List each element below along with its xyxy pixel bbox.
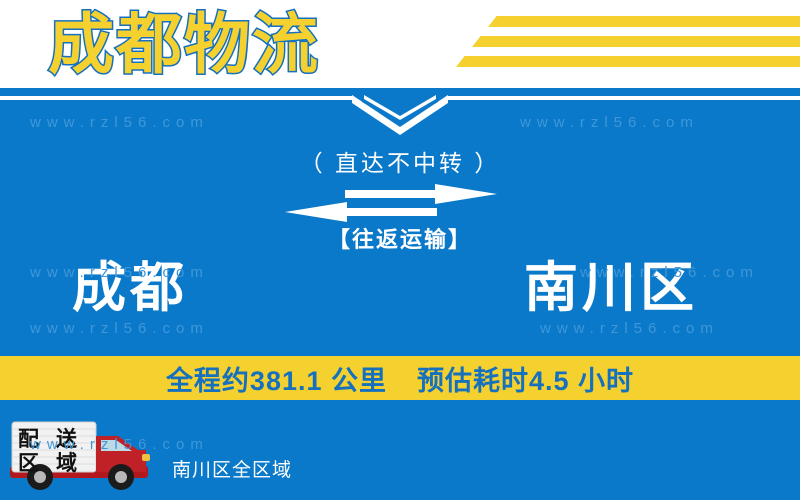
logistics-banner: 成都物流 www.rzl56.com www.rzl56.com 成都 南川区 … bbox=[0, 0, 800, 500]
duration-text: 预估耗时4.5 小时 bbox=[417, 359, 634, 398]
watermark: www.rzl56.com bbox=[30, 436, 209, 453]
watermark: www.rzl56.com bbox=[30, 114, 209, 131]
banner-body: www.rzl56.com www.rzl56.com 成都 南川区 （ 直达不… bbox=[0, 88, 800, 500]
page-title: 成都物流 bbox=[48, 4, 320, 84]
watermark: www.rzl56.com bbox=[580, 264, 759, 281]
stripe-1 bbox=[488, 16, 800, 27]
watermark: www.rzl56.com bbox=[30, 320, 209, 337]
svg-text:域: 域 bbox=[56, 451, 77, 475]
coverage-area-text: 南川区全区域 bbox=[172, 455, 292, 482]
chevron-down-icon bbox=[340, 95, 460, 141]
divider-line-right bbox=[448, 96, 800, 100]
direct-shipping-note: （ 直达不中转 ） bbox=[0, 144, 800, 178]
banner-header: 成都物流 bbox=[0, 0, 800, 88]
svg-text:区: 区 bbox=[18, 452, 39, 475]
divider-line-left bbox=[0, 96, 352, 100]
stripe-2 bbox=[472, 36, 800, 47]
delivery-truck-icon: 配 送 区 域 bbox=[6, 420, 158, 492]
distance-text: 全程约381.1 公里 bbox=[166, 359, 387, 398]
stats-band-text: 全程约381.1 公里 预估耗时4.5 小时 bbox=[0, 356, 800, 400]
stats-band: 全程约381.1 公里 预估耗时4.5 小时 bbox=[0, 356, 800, 400]
roundtrip-note: 【往返运输】 bbox=[0, 222, 800, 254]
bidirectional-arrow-icon bbox=[285, 184, 497, 222]
watermark: www.rzl56.com bbox=[30, 264, 209, 281]
decorative-stripes bbox=[420, 14, 800, 76]
watermark: www.rzl56.com bbox=[540, 320, 719, 337]
stripe-3 bbox=[456, 56, 800, 67]
watermark: www.rzl56.com bbox=[520, 114, 699, 131]
